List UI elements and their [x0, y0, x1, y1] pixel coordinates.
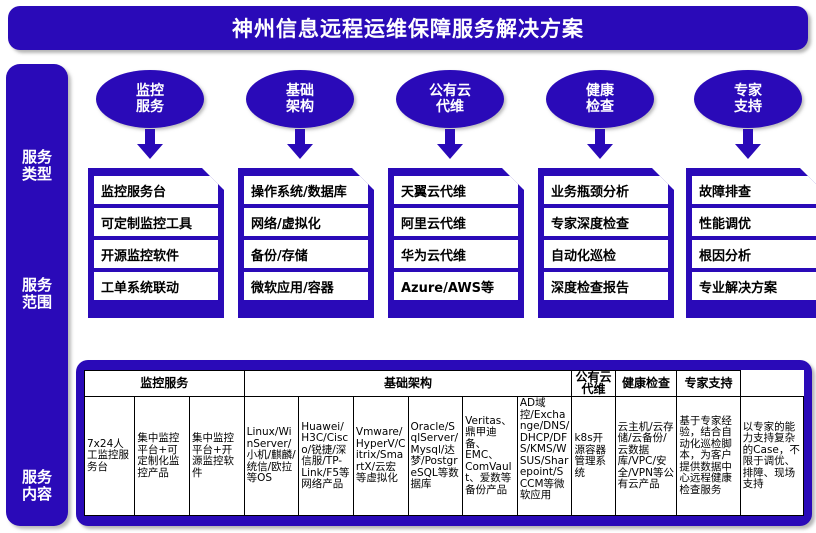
arrow-down-infrastructure — [287, 129, 313, 159]
service-content-panel: 监控服务 基础架构 公有云代维 健康检查 专家支持 7x24人工监控服务台 集中… — [76, 360, 812, 526]
scope-item[interactable]: Azure/AWS等 — [394, 272, 518, 300]
category-label-infrastructure-line1: 基础 — [286, 83, 314, 99]
service-content-table: 监控服务 基础架构 公有云代维 健康检查 专家支持 7x24人工监控服务台 集中… — [84, 370, 804, 516]
sidebar-item-service-content-line2: 内容 — [22, 485, 52, 503]
table-cell: AD域控/Exchange/DNS/DHCP/DFS/KMS/WSUS/Shar… — [517, 397, 572, 516]
sidebar-item-service-scope-line2: 范围 — [22, 293, 52, 311]
category-label-monitoring-line1: 监控 — [136, 83, 164, 99]
category-label-health-check-line2: 检查 — [586, 99, 614, 115]
scope-item[interactable]: 备份/存储 — [244, 240, 368, 268]
scope-item[interactable]: 工单系统联动 — [94, 272, 218, 300]
scope-item[interactable]: 专家深度检查 — [544, 208, 668, 236]
scope-item[interactable]: 自动化巡检 — [544, 240, 668, 268]
table-group-header-monitoring: 监控服务 — [85, 371, 245, 397]
sidebar-item-service-content: 服务 内容 — [6, 469, 68, 503]
table-cell: Linux/WinServer/小机/麒麟/统信/欧拉等OS — [244, 397, 299, 516]
scope-item[interactable]: 业务瓶颈分析 — [544, 176, 668, 204]
sidebar-item-service-type: 服务 类型 — [6, 149, 68, 183]
table-cell: 基于专家经验，结合自动化巡检脚本，为客户提供数据中心远程健康检查服务 — [677, 397, 740, 516]
category-label-expert-support-line2: 支持 — [734, 99, 762, 115]
arrow-down-health-check — [587, 129, 613, 159]
scope-item[interactable]: 根因分析 — [692, 240, 816, 268]
sidebar-item-service-type-line2: 类型 — [22, 165, 52, 183]
table-row: 7x24人工监控服务台 集中监控平台+可定制化监控产品 集中监控平台+开源监控软… — [85, 397, 804, 516]
table-group-header-health-check: 健康检查 — [615, 371, 677, 397]
scope-item[interactable]: 阿里云代维 — [394, 208, 518, 236]
table-header-row: 监控服务 基础架构 公有云代维 健康检查 专家支持 — [85, 371, 804, 397]
category-label-public-cloud-line2: 代维 — [436, 99, 464, 115]
scope-item[interactable]: 故障排查 — [692, 176, 816, 204]
table-cell: Oracle/SqlServer/Mysql/达梦/PostgreSQL等数据库 — [408, 397, 463, 516]
category-label-infrastructure-line2: 架构 — [286, 99, 314, 115]
sidebar-item-service-type-line1: 服务 — [22, 148, 52, 166]
table-cell: Huawei/H3C/Cisco/锐捷/深信服/TP-Link/F5等网络产品 — [299, 397, 354, 516]
table-cell: k8s开源容器管理系统 — [572, 397, 615, 516]
table-cell: 以专家的能力支持复杂的Case，不限于调优、排障、现场支持 — [740, 397, 803, 516]
scope-item[interactable]: 开源监控软件 — [94, 240, 218, 268]
category-ellipse-public-cloud[interactable]: 公有云代维 — [396, 70, 504, 128]
scope-item[interactable]: 华为云代维 — [394, 240, 518, 268]
sidebar: 服务 类型 服务 范围 服务 内容 — [6, 64, 68, 526]
scope-item[interactable]: 微软应用/容器 — [244, 272, 368, 300]
category-ellipse-health-check[interactable]: 健康检查 — [546, 70, 654, 128]
scope-item[interactable]: 可定制监控工具 — [94, 208, 218, 236]
scope-item[interactable]: 深度检查报告 — [544, 272, 668, 300]
scope-item[interactable]: 天翼云代维 — [394, 176, 518, 204]
table-group-header-public-cloud: 公有云代维 — [572, 371, 615, 397]
table-cell: 云主机/云存储/云备份/云数据库/VPC/安全/VPN等公有云产品 — [615, 397, 677, 516]
category-label-public-cloud-line1: 公有云 — [429, 83, 471, 99]
category-ellipse-expert-support[interactable]: 专家支持 — [694, 70, 802, 128]
table-group-header-infrastructure: 基础架构 — [244, 371, 572, 397]
category-label-health-check-line1: 健康 — [586, 83, 614, 99]
table-cell: Veritas、鼎甲迪备、EMC、ComVault、爱数等备份产品 — [463, 397, 518, 516]
slide-canvas: 神州信息远程运维保障服务解决方案 服务 类型 服务 范围 服务 内容 监控服务 … — [0, 0, 816, 533]
scope-item[interactable]: 性能调优 — [692, 208, 816, 236]
scope-item[interactable]: 监控服务台 — [94, 176, 218, 204]
table-group-header-expert-support: 专家支持 — [677, 371, 740, 397]
table-cell: Vmware/HyperV/Citrix/SmartX/云宏等虚拟化 — [353, 397, 408, 516]
scope-item[interactable]: 网络/虚拟化 — [244, 208, 368, 236]
category-label-expert-support-line1: 专家 — [734, 83, 762, 99]
arrow-down-expert-support — [735, 129, 761, 159]
arrow-down-monitoring — [137, 129, 163, 159]
scope-card-infrastructure: 操作系统/数据库 网络/虚拟化 备份/存储 微软应用/容器 — [238, 168, 374, 318]
table-cell: 7x24人工监控服务台 — [85, 397, 135, 516]
scope-item[interactable]: 操作系统/数据库 — [244, 176, 368, 204]
arrow-down-public-cloud — [437, 129, 463, 159]
scope-card-expert-support: 故障排查 性能调优 根因分析 专业解决方案 — [686, 168, 816, 318]
page-title: 神州信息远程运维保障服务解决方案 — [232, 13, 584, 43]
sidebar-item-service-scope: 服务 范围 — [6, 277, 68, 311]
category-ellipse-infrastructure[interactable]: 基础架构 — [246, 70, 354, 128]
table-cell: 集中监控平台+可定制化监控产品 — [135, 397, 190, 516]
scope-card-health-check: 业务瓶颈分析 专家深度检查 自动化巡检 深度检查报告 — [538, 168, 674, 318]
scope-item[interactable]: 专业解决方案 — [692, 272, 816, 300]
sidebar-item-service-content-line1: 服务 — [22, 468, 52, 486]
sidebar-item-service-scope-line1: 服务 — [22, 276, 52, 294]
scope-card-monitoring: 监控服务台 可定制监控工具 开源监控软件 工单系统联动 — [88, 168, 224, 318]
category-ellipse-monitoring[interactable]: 监控服务 — [96, 70, 204, 128]
scope-card-public-cloud: 天翼云代维 阿里云代维 华为云代维 Azure/AWS等 — [388, 168, 524, 318]
category-label-monitoring-line2: 服务 — [136, 99, 164, 115]
table-cell: 集中监控平台+开源监控软件 — [189, 397, 244, 516]
page-title-bar: 神州信息远程运维保障服务解决方案 — [8, 6, 808, 50]
